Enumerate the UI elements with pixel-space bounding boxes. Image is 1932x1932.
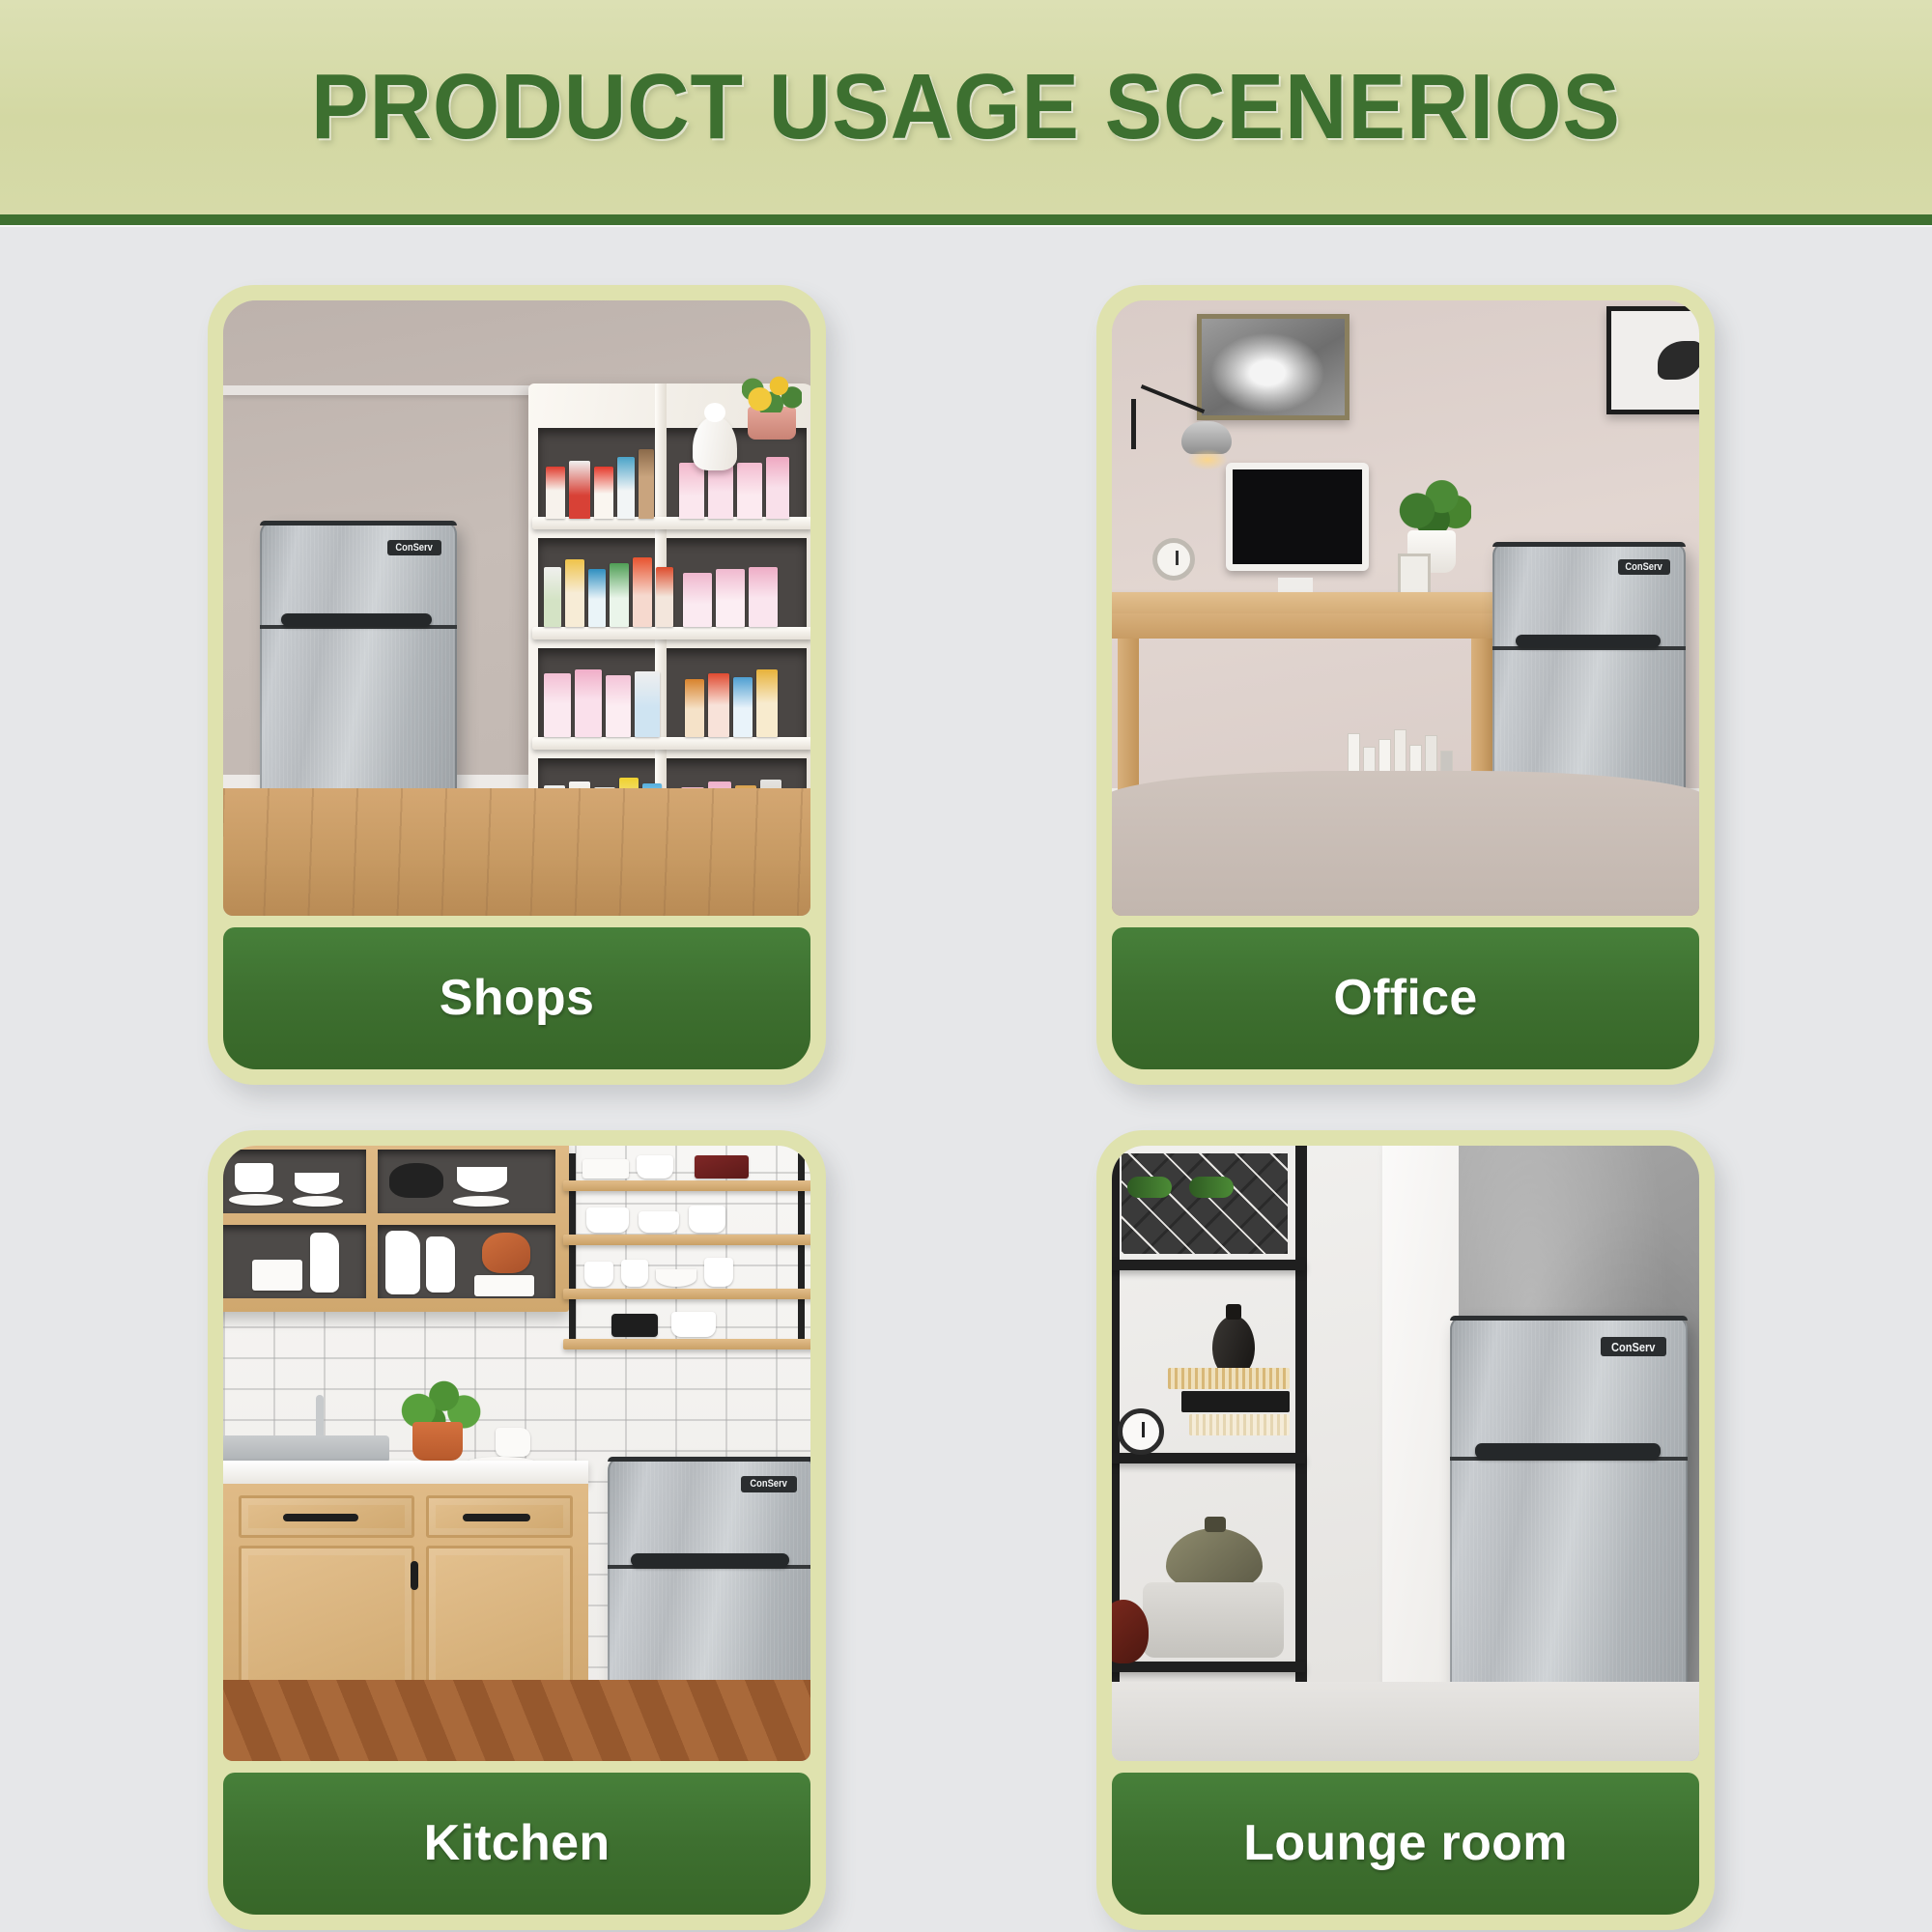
lamp-post [1131,399,1136,449]
ladder-shelf-rail-right [1295,1146,1307,1740]
scenario-photo-kitchen: ConServ [223,1146,810,1761]
shop-product [575,669,602,737]
wall-shelf-board [563,1180,810,1191]
white-plate [293,1196,343,1207]
kitchen-floor [223,1680,810,1761]
fridge-brand-badge: ConServ [1618,559,1670,575]
shop-shelving-unit [528,384,810,858]
shop-wood-floor [223,788,810,916]
fridge-brand-badge: ConServ [1601,1337,1666,1356]
alarm-clock [1152,538,1195,581]
alarm-clock [1118,1408,1164,1455]
cabinet-pull [411,1561,418,1590]
scenario-label-text: Kitchen [424,1814,611,1872]
black-teapot [389,1163,443,1198]
sink-faucet [316,1395,324,1439]
shop-product [766,457,789,519]
page-header: PRODUCT USAGE SCENERIOS [0,0,1932,214]
scenario-card-office[interactable]: ConServ Office [1096,285,1715,1085]
white-mug [496,1428,530,1457]
white-cup [235,1163,273,1192]
scenario-label-office: Office [1112,927,1699,1069]
wall-shelf-board [563,1289,810,1299]
desk-photo-frame [1398,554,1431,596]
book [1189,1414,1290,1435]
shop-product [708,673,729,737]
shop-product [716,569,745,627]
white-bowl [637,1155,673,1179]
white-plate [453,1196,509,1207]
clay-pot [482,1233,530,1273]
fridge-brand-badge: ConServ [387,540,441,555]
shop-product [594,467,613,519]
fridge-handle-upper [631,1553,789,1567]
shop-product [544,673,571,737]
shelf-board-2 [532,627,810,639]
stacked-books [1168,1368,1290,1443]
shop-product [610,563,629,627]
shop-product [639,449,654,519]
white-pitcher [385,1231,420,1294]
cabinet-pull [283,1514,358,1521]
shop-product [544,567,561,627]
white-jar [584,1262,613,1287]
wine-bottle [1189,1177,1234,1198]
desk-apron [1112,613,1502,639]
white-bowl [656,1269,696,1287]
storage-box [1143,1582,1284,1658]
lounge-floor [1112,1682,1699,1761]
ladder-shelf-board [1112,1662,1305,1672]
scenario-label-kitchen: Kitchen [223,1773,810,1915]
framed-art-landscape [1197,314,1350,420]
fridge-handle-upper [1516,635,1661,647]
fridge-brand-text: ConServ [396,543,433,554]
header-divider [0,214,1932,225]
wine-rack [1122,1153,1288,1254]
fridge-brand-text: ConServ [1611,1341,1655,1353]
scenario-label-lounge: Lounge room [1112,1773,1699,1915]
white-bowl [295,1173,339,1194]
scenario-card-kitchen[interactable]: ConServ Kitchen [208,1130,826,1930]
computer-monitor [1226,463,1369,571]
framed-art-leaf [1606,306,1699,414]
shop-product [606,675,631,737]
fridge-brand-badge: ConServ [741,1476,797,1492]
stacked-plates [582,1159,629,1179]
shop-product [635,671,660,737]
shop-product [685,679,704,737]
fridge-brushed-texture [260,521,457,810]
fridge-handle-upper [281,613,432,626]
shop-product [656,567,673,627]
book [1168,1368,1290,1389]
scenario-photo-lounge: ConServ [1112,1146,1699,1761]
white-bowl [457,1167,507,1192]
white-pot [671,1312,716,1337]
stacked-plates [474,1275,534,1296]
fridge-top-cap [1450,1316,1688,1321]
shop-product [679,463,704,519]
fridge-top-cap [608,1457,810,1462]
black-pot [611,1314,658,1337]
scenario-card-lounge[interactable]: ConServ Lounge room [1096,1130,1715,1930]
black-vase [1212,1316,1255,1376]
lounge-pillar [1382,1146,1459,1761]
white-pitcher [310,1233,339,1293]
scenario-photo-office: ConServ [1112,300,1699,916]
wine-bottle [1127,1177,1172,1198]
scenario-grid: ConServ [0,225,1932,1932]
shop-product [756,669,778,737]
upper-cabinet [223,1146,569,1312]
plant-foliage [742,368,802,412]
shop-product [617,457,635,519]
desk-top [1112,592,1508,613]
fridge-handle-upper [1475,1443,1661,1459]
fridge-body [1450,1316,1688,1714]
desk-lamp-glow [1187,449,1228,470]
white-plate [229,1194,283,1206]
white-bowl [639,1211,679,1233]
shop-product [733,677,753,737]
scenario-label-text: Shops [440,969,594,1027]
kitchen-sink [223,1435,389,1463]
shop-product [737,463,762,519]
mini-fridge-lounge: ConServ [1450,1316,1688,1714]
kitchen-countertop [223,1461,588,1484]
red-tray [695,1155,749,1179]
shop-product [565,559,584,627]
white-jar [689,1206,725,1233]
wall-shelf-board [563,1339,810,1350]
shop-product [683,573,712,627]
wall-shelf-board [563,1235,810,1245]
stacked-plates [252,1260,302,1291]
cabinet-pull [463,1514,530,1521]
fridge-body [260,521,457,810]
scenario-card-shops[interactable]: ConServ [208,285,826,1085]
fridge-brushed-texture [1450,1316,1688,1714]
page-title: PRODUCT USAGE SCENERIOS [311,54,1621,160]
shop-product [569,461,590,519]
shop-product [588,569,606,627]
scenario-label-text: Lounge room [1243,1814,1568,1872]
white-pot [586,1207,629,1233]
book [1181,1391,1290,1412]
shelf-board-3 [532,737,810,750]
potted-plant-foliage [1394,472,1471,536]
mini-fridge-shops: ConServ [260,521,457,810]
office-rug [1112,771,1699,916]
scenario-label-text: Office [1333,969,1477,1027]
ladder-shelf-board [1112,1260,1305,1270]
white-jar [621,1260,648,1287]
fridge-top-cap [1492,542,1686,547]
fridge-brand-text: ConServ [751,1479,787,1490]
fridge-top-cap [260,521,457,526]
shop-product [633,557,652,627]
shop-product [546,467,565,519]
shop-product [749,567,778,627]
scenario-photo-shops: ConServ [223,300,810,916]
white-jar [704,1258,733,1287]
fridge-brand-text: ConServ [1626,562,1662,573]
herb-plant-pot [412,1422,463,1461]
scenario-label-shops: Shops [223,927,810,1069]
white-pitcher [426,1236,455,1293]
wall-shelf-unit [563,1153,810,1347]
